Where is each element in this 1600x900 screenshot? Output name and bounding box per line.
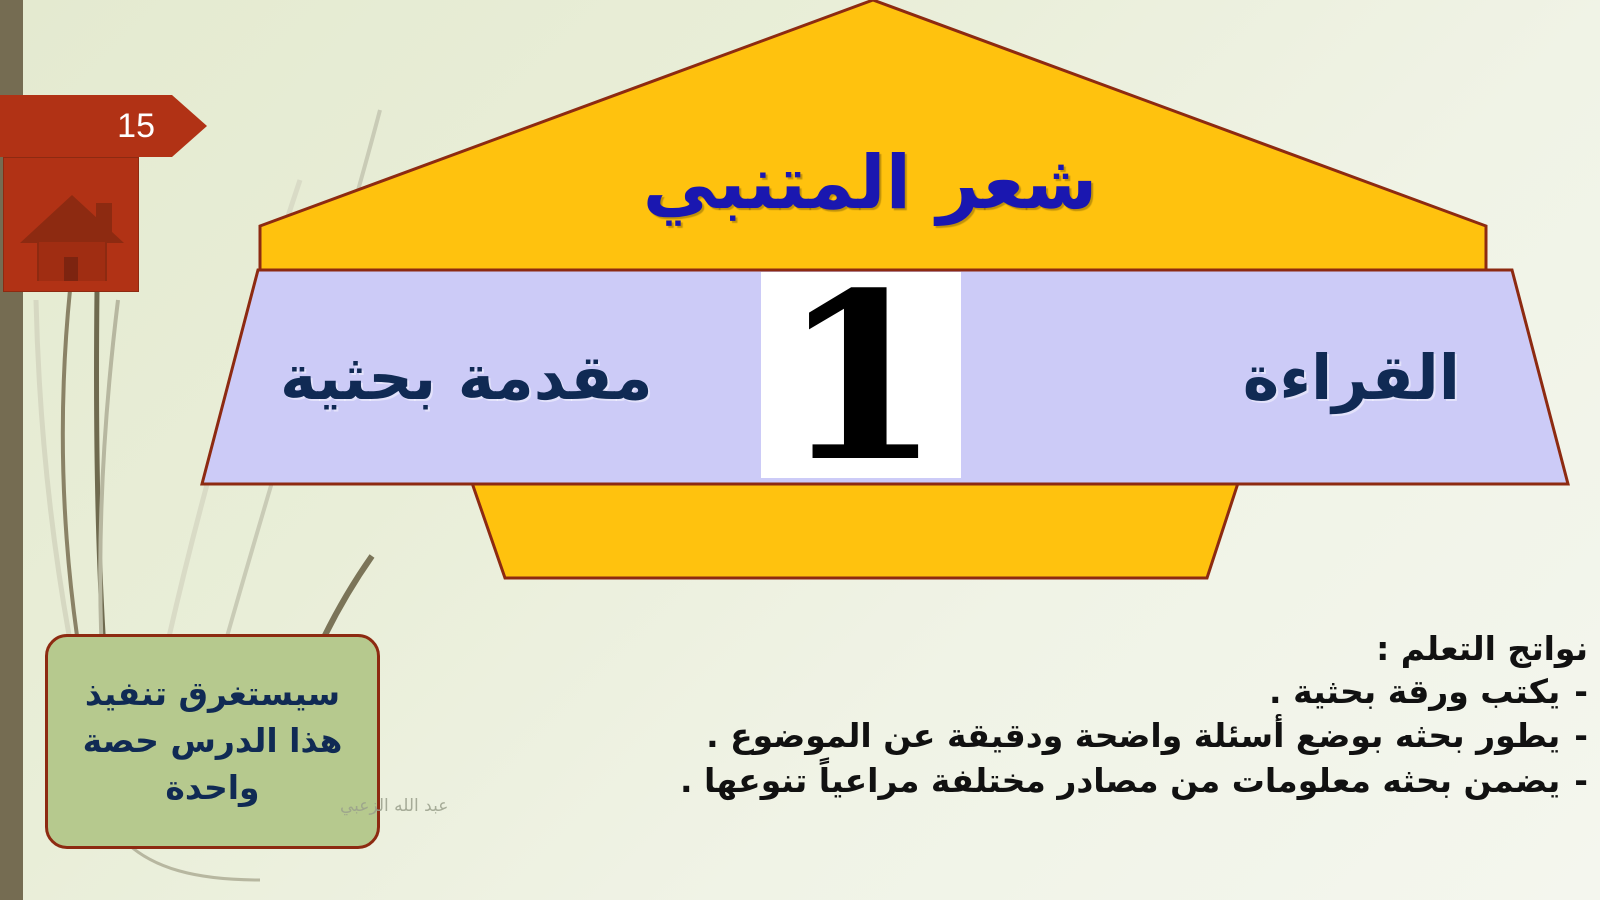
- yellow-pentagon-top: [258, 0, 1488, 278]
- duration-note-line-3: واحدة: [165, 765, 259, 812]
- slide-number-text: 15: [117, 109, 155, 143]
- bullet-dash: -: [1560, 714, 1588, 758]
- bullet-dash: -: [1560, 670, 1588, 714]
- page-title: شعر المتنبي: [430, 140, 1310, 226]
- learning-outcomes: نواتج التعلم : -يكتب ورقة بحثية . -يطور …: [588, 628, 1588, 803]
- home-icon: [16, 169, 128, 281]
- slide-canvas: 15 شعر المتنبي القراءة مقدمة بحثية 1 سيس…: [0, 0, 1600, 900]
- list-item: -يطور بحثه بوضع أسئلة واضحة ودقيقة عن ال…: [588, 714, 1588, 758]
- section-number-box: 1: [761, 272, 961, 478]
- yellow-trapezoid-bottom: [455, 478, 1255, 583]
- list-item: -يكتب ورقة بحثية .: [588, 670, 1588, 714]
- author-watermark: عبد الله الزعبي: [340, 796, 448, 816]
- list-item-text: يضمن بحثه معلومات من مصادر مختلفة مراعيا…: [680, 761, 1560, 800]
- list-item-text: يطور بحثه بوضع أسئلة واضحة ودقيقة عن الم…: [706, 716, 1560, 755]
- slide-number-badge: 15: [0, 95, 207, 157]
- duration-note-line-2: هذا الدرس حصة: [83, 718, 343, 765]
- learning-outcomes-heading: نواتج التعلم :: [588, 628, 1588, 670]
- list-item: -يضمن بحثه معلومات من مصادر مختلفة مراعي…: [588, 759, 1588, 803]
- home-button[interactable]: [3, 157, 139, 292]
- duration-note-box: سيستغرق تنفيذ هذا الدرس حصة واحدة: [45, 634, 380, 849]
- list-item-text: يكتب ورقة بحثية .: [1269, 672, 1560, 711]
- bullet-dash: -: [1560, 759, 1588, 803]
- duration-note-line-1: سيستغرق تنفيذ: [85, 671, 340, 718]
- learning-outcomes-list: -يكتب ورقة بحثية . -يطور بحثه بوضع أسئلة…: [588, 670, 1588, 803]
- section-number-text: 1: [781, 277, 941, 478]
